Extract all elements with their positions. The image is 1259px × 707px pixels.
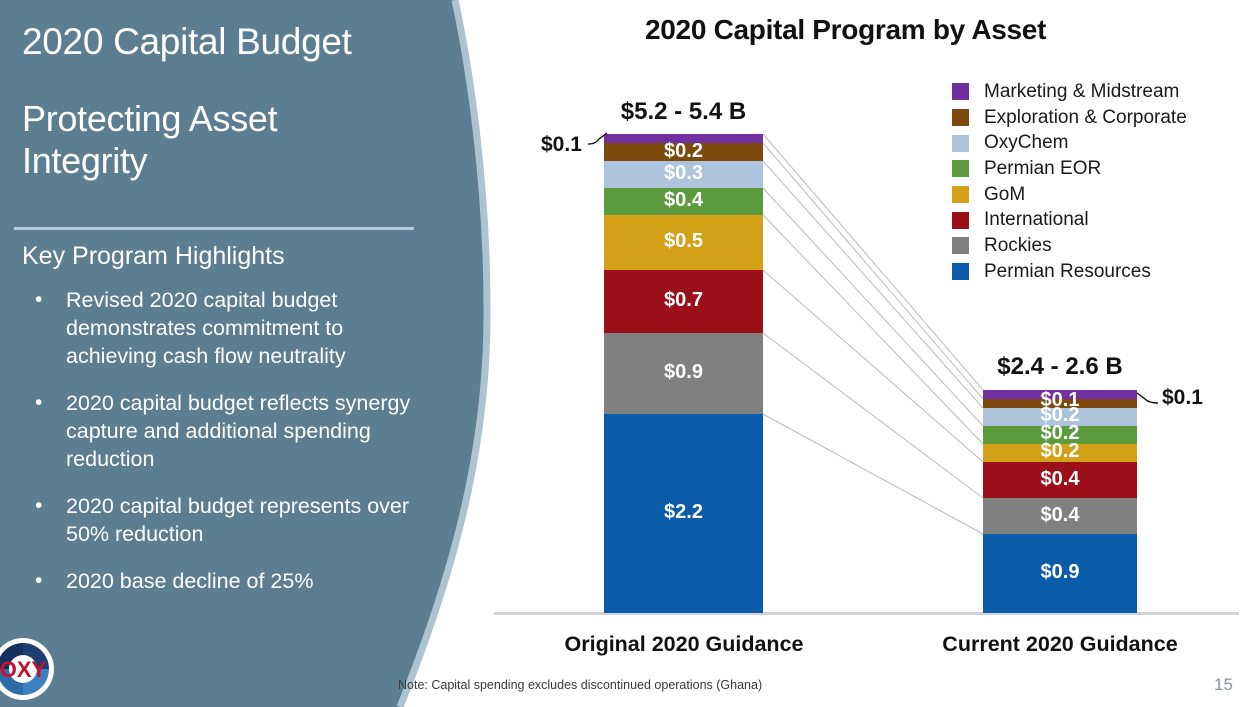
page-title: 2020 Capital Budget [22,20,422,64]
segment-exploration-corporate[interactable]: $0.2 [604,143,763,161]
segment-value-label: $0.9 [983,561,1137,584]
segment-international[interactable]: $0.4 [983,462,1137,498]
segment-value-label: $0.5 [604,230,763,253]
footnote-text: Note: Capital spending excludes disconti… [398,678,762,692]
bullet-marker-icon: • [35,286,42,314]
segment-value-label: $0.7 [604,289,763,312]
bar-total-label: $5.2 - 5.4 B [604,98,763,126]
list-item: • Revised 2020 capital budget demonstrat… [28,286,428,370]
page-number: 15 [1214,675,1233,695]
segment-value-label: $0.3 [604,162,763,185]
highlights-heading: Key Program Highlights [22,242,285,271]
callout-label-original-marketing: $0.1 [541,133,582,157]
list-item-label: 2020 capital budget reflects synergy cap… [66,389,428,473]
segment-value-label: $0.2 [983,440,1137,463]
callout-label-current-marketing: $0.1 [1162,386,1203,410]
bar-total-label: $2.4 - 2.6 B [983,353,1137,381]
bar-current-2020-guidance[interactable]: $2.4 - 2.6 B $0.1 $0.2 $0.2 $0.2 $0.4 $0… [983,390,1137,613]
list-item-label: 2020 base decline of 25% [66,567,428,595]
category-label-original: Original 2020 Guidance [544,632,824,657]
chart-plot-area: $5.2 - 5.4 B $0.2 $0.3 $0.4 $0.5 $0.7 $0… [490,0,1259,707]
list-item: • 2020 capital budget represents over 50… [28,492,428,548]
highlights-bullet-list: • Revised 2020 capital budget demonstrat… [28,286,428,614]
page-subtitle: Protecting Asset Integrity [22,98,402,182]
category-label-current: Current 2020 Guidance [920,632,1200,657]
segment-international[interactable]: $0.7 [604,270,763,333]
segment-value-label: $0.2 [604,140,763,163]
segment-value-label: $2.2 [604,501,763,524]
segment-gom[interactable]: $0.2 [983,444,1137,462]
segment-value-label: $0.4 [983,504,1137,527]
segment-permian-resources[interactable]: $0.9 [983,534,1137,613]
bullet-marker-icon: • [35,492,42,520]
segment-value-label: $0.4 [983,468,1137,491]
bar-original-2020-guidance[interactable]: $5.2 - 5.4 B $0.2 $0.3 $0.4 $0.5 $0.7 $0… [604,134,763,613]
list-item-label: Revised 2020 capital budget demonstrates… [66,286,428,370]
title-divider [14,227,414,230]
segment-rockies[interactable]: $0.4 [983,498,1137,534]
list-item-label: 2020 capital budget represents over 50% … [66,492,428,548]
bullet-marker-icon: • [35,567,42,595]
oxy-logo: OXY [0,637,79,701]
callout-leader-line-left [587,130,609,152]
list-item: • 2020 base decline of 25% [28,567,428,595]
callout-leader-line-right [1136,388,1160,408]
segment-rockies[interactable]: $0.9 [604,333,763,414]
bullet-marker-icon: • [35,389,42,417]
segment-permian-resources[interactable]: $2.2 [604,414,763,613]
list-item: • 2020 capital budget reflects synergy c… [28,389,428,473]
segment-value-label: $0.4 [604,189,763,212]
segment-permian-eor[interactable]: $0.4 [604,188,763,215]
oxy-logo-text: OXY [0,657,47,682]
segment-value-label: $0.9 [604,361,763,384]
segment-gom[interactable]: $0.5 [604,215,763,270]
segment-oxychem[interactable]: $0.3 [604,161,763,188]
